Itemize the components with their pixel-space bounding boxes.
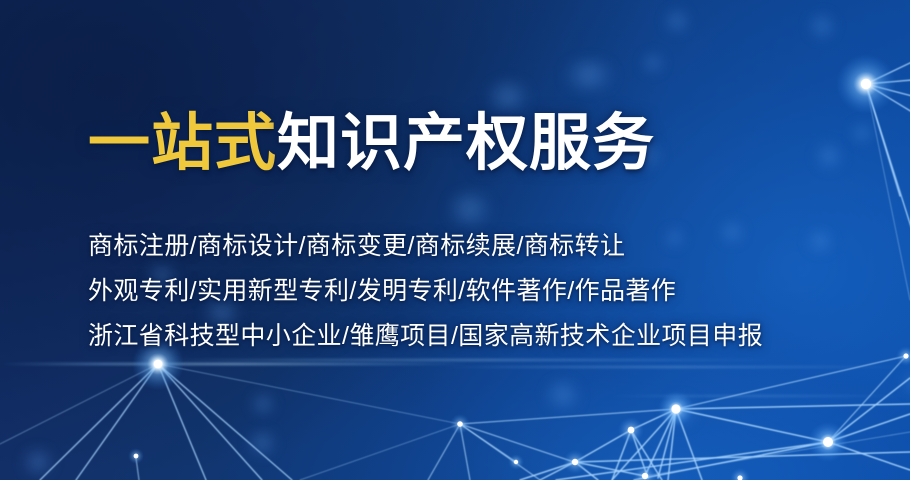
- page-title: 一站式知识产权服务: [88, 113, 655, 175]
- service-line-patent: 外观专利/实用新型专利/发明专利/软件著作/作品著作: [88, 269, 763, 314]
- service-list: 商标注册/商标设计/商标变更/商标续展/商标转让 外观专利/实用新型专利/发明专…: [88, 224, 763, 359]
- banner-hero: 一站式知识产权服务 商标注册/商标设计/商标变更/商标续展/商标转让 外观专利/…: [0, 0, 910, 480]
- banner-copy: 一站式知识产权服务 商标注册/商标设计/商标变更/商标续展/商标转让 外观专利/…: [88, 0, 848, 480]
- service-line-trademark: 商标注册/商标设计/商标变更/商标续展/商标转让: [88, 224, 763, 269]
- headline-rest: 知识产权服务: [277, 109, 655, 178]
- service-line-project: 浙江省科技型中小企业/雏鹰项目/国家高新技术企业项目申报: [88, 314, 763, 359]
- headline-accent: 一站式: [88, 109, 277, 178]
